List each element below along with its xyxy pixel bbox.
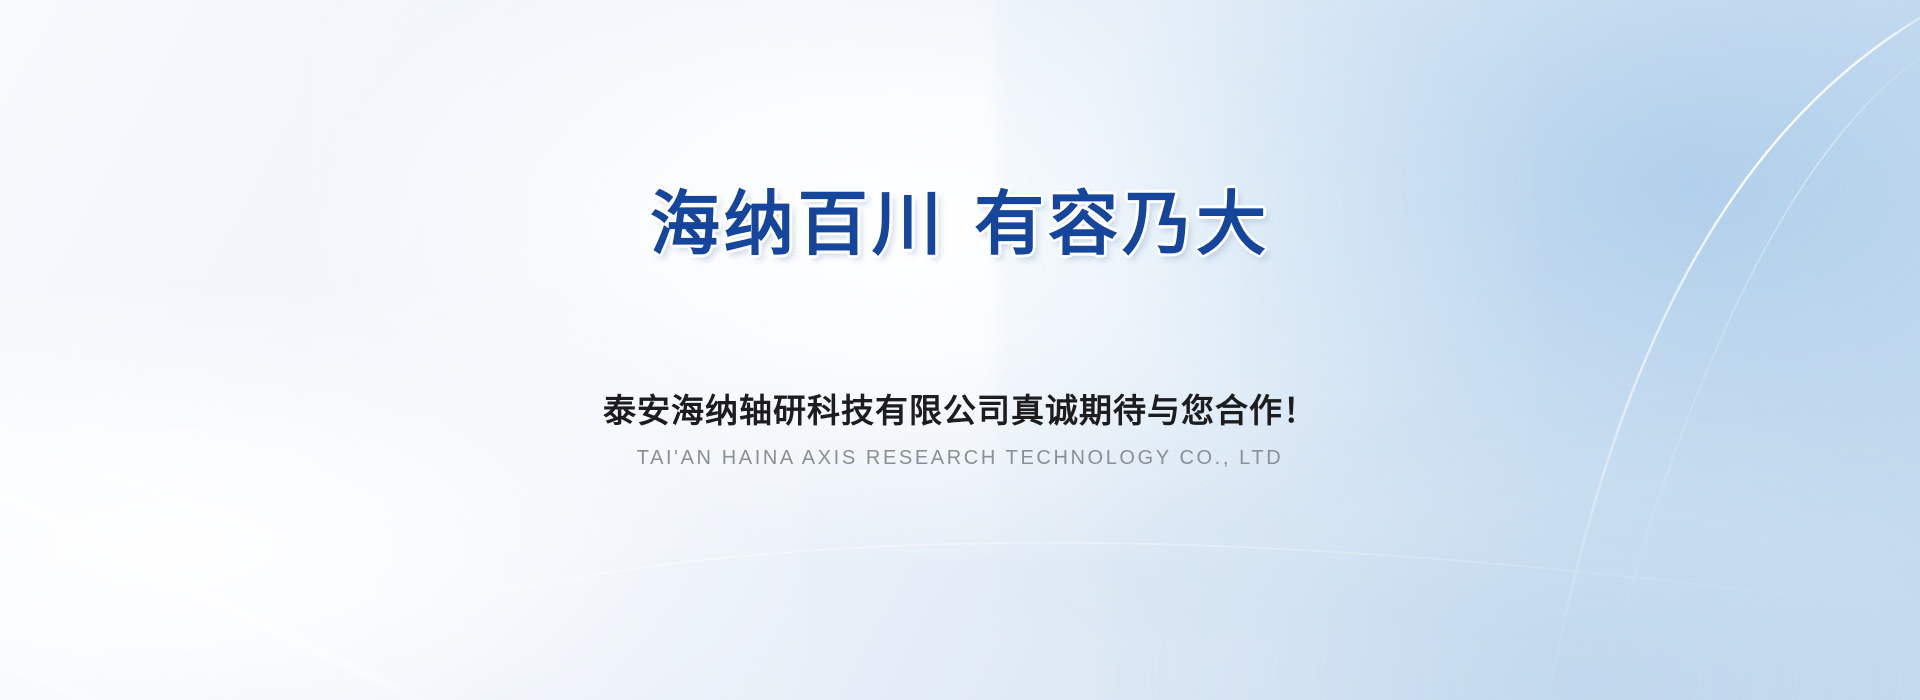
subtitle-english: TAI'AN HAINA AXIS RESEARCH TECHNOLOGY CO… — [637, 447, 1284, 470]
subtitle-chinese: 泰安海纳轴研科技有限公司真诚期待与您合作！ — [603, 384, 1317, 432]
banner-content: 海纳百川 有容乃大 泰安海纳轴研科技有限公司真诚期待与您合作！ TAI'AN H… — [0, 0, 1920, 700]
page-title: 海纳百川 有容乃大 — [650, 168, 1270, 269]
hero-banner: 海纳百川 有容乃大 泰安海纳轴研科技有限公司真诚期待与您合作！ TAI'AN H… — [0, 0, 1920, 700]
